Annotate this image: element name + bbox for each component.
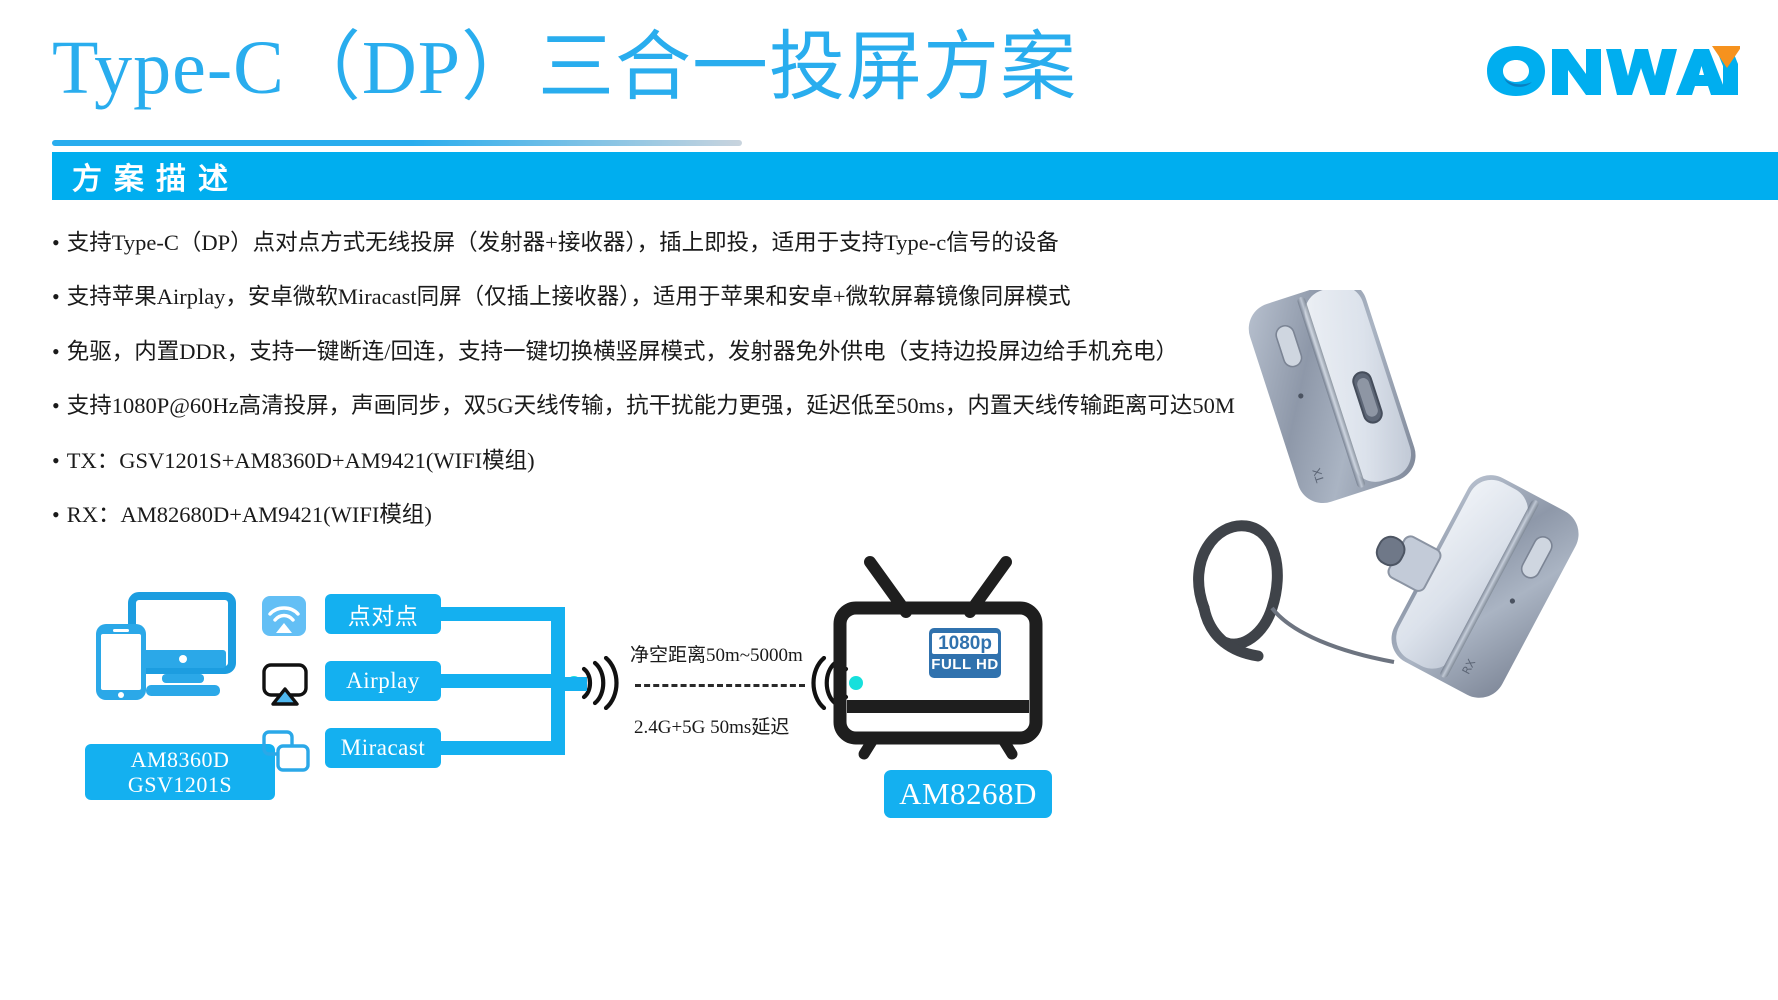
protocol-pill-p2p[interactable]: 点对点 <box>325 594 441 634</box>
list-item: • 免驱，内置DDR，支持一键断连/回连，支持一键切换横竖屏模式，发射器免外供电… <box>52 337 1282 367</box>
dongle-upper: TX <box>1242 290 1422 510</box>
onway-logo <box>1480 38 1740 104</box>
bullet-dot-icon: • <box>52 282 60 312</box>
chip-line-1: AM8360D <box>131 747 230 772</box>
phone-and-monitor-icon <box>90 590 250 710</box>
resolution-badge: 1080p FULL HD <box>929 628 1001 678</box>
clearance-distance-label: 净空距离50m~5000m <box>630 640 803 667</box>
bullet-text: 免驱，内置DDR，支持一键断连/回连，支持一键切换横竖屏模式，发射器免外供电（支… <box>67 337 1178 367</box>
protocol-pill-miracast[interactable]: Miracast <box>325 728 441 768</box>
badge-quality-text: FULL HD <box>931 656 998 673</box>
bullet-dot-icon: • <box>52 337 60 367</box>
miracast-icon <box>262 730 310 770</box>
protocol-label: Airplay <box>346 668 420 694</box>
feature-bullet-list: • 支持Type-C（DP）点对点方式无线投屏（发射器+接收器），插上即投，适用… <box>52 228 1282 554</box>
section-header-bar: 方案描述 <box>52 152 1778 200</box>
protocol-label: Miracast <box>341 735 425 761</box>
wireless-link-dashed-line <box>635 684 805 687</box>
bus-output-stub <box>551 677 587 691</box>
list-item: • 支持1080P@60Hz高清投屏，声画同步，双5G天线传输，抗干扰能力更强，… <box>52 391 1282 421</box>
bullet-text: 支持Type-C（DP）点对点方式无线投屏（发射器+接收器），插上即投，适用于支… <box>67 228 1059 258</box>
bullet-dot-icon: • <box>52 228 60 258</box>
wifi-cast-icon <box>262 596 310 636</box>
chip-line-2: GSV1201S <box>128 772 232 797</box>
section-title: 方案描述 <box>72 154 240 198</box>
list-item: • RX：AM82680D+AM9421(WIFI模组) <box>52 500 1282 530</box>
product-photo: TX RX <box>1180 290 1770 710</box>
title-underline-rule <box>52 140 742 146</box>
bullet-text: RX：AM82680D+AM9421(WIFI模组) <box>67 500 432 530</box>
transmitter-chip-label: AM8360D GSV1201S <box>85 744 275 800</box>
protocol-pill-airplay[interactable]: Airplay <box>325 661 441 701</box>
band-latency-label: 2.4G+5G 50ms延迟 <box>634 712 789 739</box>
badge-resolution-text: 1080p <box>932 633 998 655</box>
logo-wordmark-icon <box>1487 46 1740 96</box>
list-item: • TX：GSV1201S+AM8360D+AM9421(WIFI模组) <box>52 446 1282 476</box>
airplay-icon <box>262 663 310 703</box>
list-item: • 支持苹果Airplay，安卓微软Miracast同屏（仅插上接收器），适用于… <box>52 282 1282 312</box>
page-title: Type-C（DP）三合一投屏方案 <box>52 24 1077 114</box>
list-item: • 支持Type-C（DP）点对点方式无线投屏（发射器+接收器），插上即投，适用… <box>52 228 1282 258</box>
bullet-text: TX：GSV1201S+AM8360D+AM9421(WIFI模组) <box>67 446 535 476</box>
bullet-text: 支持苹果Airplay，安卓微软Miracast同屏（仅插上接收器），适用于苹果… <box>67 282 1071 312</box>
bullet-dot-icon: • <box>52 446 60 476</box>
protocol-label: 点对点 <box>348 597 419 631</box>
receiver-chip-label: AM8268D <box>884 770 1052 818</box>
bullet-dot-icon: • <box>52 391 60 421</box>
bullet-text: 支持1080P@60Hz高清投屏，声画同步，双5G天线传输，抗干扰能力更强，延迟… <box>67 391 1235 421</box>
bullet-dot-icon: • <box>52 500 60 530</box>
architecture-diagram: AM8360D GSV1201S 点对点 Airplay Mira <box>0 580 1250 900</box>
